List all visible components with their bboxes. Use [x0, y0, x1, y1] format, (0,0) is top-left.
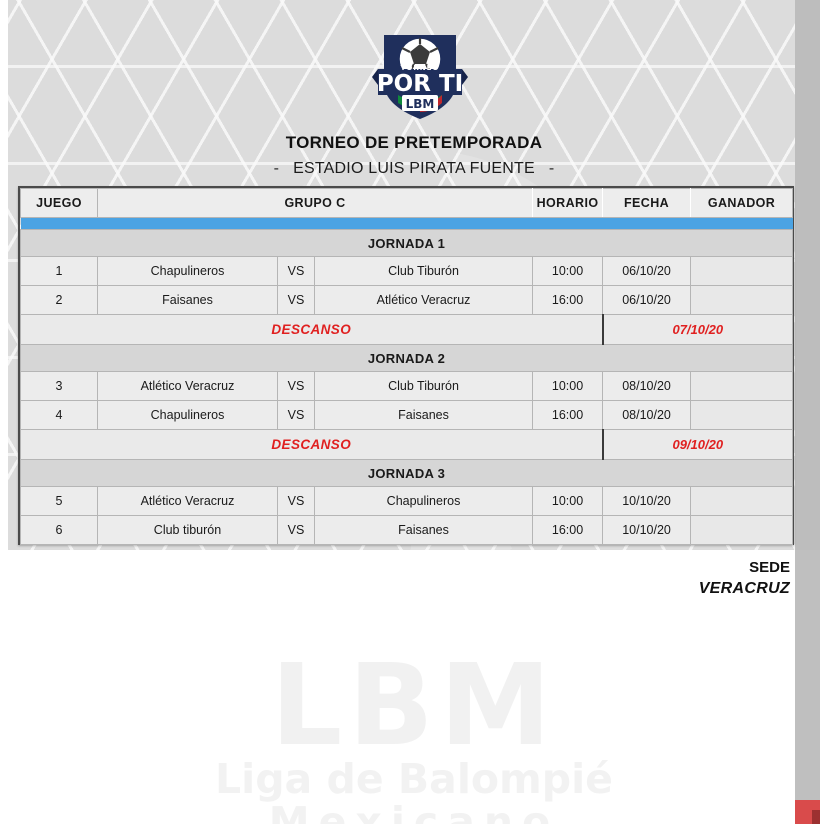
table-row[interactable]: 2 Faisanes VS Atlético Veracruz 16:00 06… — [21, 286, 793, 315]
cell-juego: 3 — [21, 372, 98, 401]
lbm-watermark: LBM Liga de Balompié Mexicano — [0, 655, 828, 824]
schedule-table-wrapper: JUEGO GRUPO C HORARIO FECHA GANADOR JORN… — [18, 186, 794, 545]
table-head: JUEGO GRUPO C HORARIO FECHA GANADOR — [21, 189, 793, 230]
rest-date: 09/10/20 — [603, 430, 793, 460]
cell-horario: 16:00 — [533, 286, 603, 315]
table-row[interactable]: 5 Atlético Veracruz VS Chapulineros 10:0… — [21, 487, 793, 516]
cell-juego: 2 — [21, 286, 98, 315]
rest-label: DESCANSO — [21, 430, 603, 460]
cell-team1: Faisanes — [98, 286, 278, 315]
sede-block: SEDE VERACRUZ — [0, 558, 790, 600]
column-header-juego: JUEGO — [21, 189, 98, 218]
cell-team1: Atlético Veracruz — [98, 487, 278, 516]
right-edge-band-lower — [795, 550, 820, 800]
cell-horario: 10:00 — [533, 257, 603, 286]
dash-right: - — [535, 160, 569, 178]
cell-team2: Club Tiburón — [315, 372, 533, 401]
table-body: JORNADA 1 1 Chapulineros VS Club Tiburón… — [21, 230, 793, 545]
right-white-margin — [820, 0, 828, 824]
cell-team2: Atlético Veracruz — [315, 286, 533, 315]
cell-ganador[interactable] — [691, 401, 793, 430]
cell-horario: 16:00 — [533, 516, 603, 545]
sede-value: VERACRUZ — [0, 578, 790, 600]
rest-date: 07/10/20 — [603, 315, 793, 345]
lbm-watermark-line1: Liga de Balompié — [0, 758, 828, 801]
section-header-row: JORNADA 2 — [21, 345, 793, 372]
accent-bar-row — [21, 218, 793, 230]
cell-team1: Atlético Veracruz — [98, 372, 278, 401]
section-title: JORNADA 3 — [21, 460, 793, 487]
red-corner-marker-dark — [812, 810, 820, 824]
cell-fecha: 08/10/20 — [603, 372, 691, 401]
cell-horario: 16:00 — [533, 401, 603, 430]
accent-bar — [21, 218, 793, 230]
cell-horario: 10:00 — [533, 487, 603, 516]
page-title: TORNEO DE PRETEMPORADA — [0, 133, 828, 153]
cell-ganador[interactable] — [691, 487, 793, 516]
cell-ganador[interactable] — [691, 257, 793, 286]
section-title: JORNADA 1 — [21, 230, 793, 257]
venue-name: ESTADIO LUIS PIRATA FUENTE — [293, 160, 535, 177]
cell-vs: VS — [278, 372, 315, 401]
lbm-watermark-big: LBM — [0, 655, 828, 758]
dash-left: - — [260, 160, 294, 178]
svg-text:LBM: LBM — [406, 97, 435, 111]
table-row[interactable]: 3 Atlético Veracruz VS Club Tiburón 10:0… — [21, 372, 793, 401]
column-header-grupo: GRUPO C — [98, 189, 533, 218]
cell-vs: VS — [278, 516, 315, 545]
left-white-margin — [0, 0, 8, 824]
cell-team2: Faisanes — [315, 516, 533, 545]
cell-fecha: 10/10/20 — [603, 516, 691, 545]
schedule-table: JUEGO GRUPO C HORARIO FECHA GANADOR JORN… — [20, 188, 793, 545]
rest-label: DESCANSO — [21, 315, 603, 345]
section-header-row: JORNADA 3 — [21, 460, 793, 487]
column-header-horario: HORARIO — [533, 189, 603, 218]
table-header-row: JUEGO GRUPO C HORARIO FECHA GANADOR — [21, 189, 793, 218]
cell-team1: Chapulineros — [98, 401, 278, 430]
cell-juego: 1 — [21, 257, 98, 286]
table-row[interactable]: 6 Club tiburón VS Faisanes 16:00 10/10/2… — [21, 516, 793, 545]
table-row[interactable]: 4 Chapulineros VS Faisanes 16:00 08/10/2… — [21, 401, 793, 430]
cell-fecha: 06/10/20 — [603, 257, 691, 286]
lbm-watermark-line2: Mexicano — [0, 801, 828, 824]
cell-vs: VS — [278, 401, 315, 430]
table-row[interactable]: 1 Chapulineros VS Club Tiburón 10:00 06/… — [21, 257, 793, 286]
cell-team2: Club Tiburón — [315, 257, 533, 286]
cell-horario: 10:00 — [533, 372, 603, 401]
cell-team2: Chapulineros — [315, 487, 533, 516]
cell-vs: VS — [278, 487, 315, 516]
cell-fecha: 06/10/20 — [603, 286, 691, 315]
rest-day-row: DESCANSO 09/10/20 — [21, 430, 793, 460]
cell-team1: Chapulineros — [98, 257, 278, 286]
schedule-page: LBM Liga de Balompié Mexicano TORNEO POR… — [0, 0, 828, 824]
venue-line: -ESTADIO LUIS PIRATA FUENTE- — [0, 160, 828, 178]
cell-ganador[interactable] — [691, 372, 793, 401]
cell-team1: Club tiburón — [98, 516, 278, 545]
column-header-ganador: GANADOR — [691, 189, 793, 218]
cell-juego: 5 — [21, 487, 98, 516]
sede-label: SEDE — [0, 558, 790, 578]
cell-vs: VS — [278, 286, 315, 315]
cell-ganador[interactable] — [691, 286, 793, 315]
cell-juego: 6 — [21, 516, 98, 545]
tournament-logo: TORNEO POR TI LBM — [370, 25, 470, 123]
cell-juego: 4 — [21, 401, 98, 430]
cell-team2: Faisanes — [315, 401, 533, 430]
column-header-fecha: FECHA — [603, 189, 691, 218]
rest-day-row: DESCANSO 07/10/20 — [21, 315, 793, 345]
svg-text:POR TI: POR TI — [377, 71, 463, 97]
cell-fecha: 10/10/20 — [603, 487, 691, 516]
cell-fecha: 08/10/20 — [603, 401, 691, 430]
cell-vs: VS — [278, 257, 315, 286]
cell-ganador[interactable] — [691, 516, 793, 545]
section-header-row: JORNADA 1 — [21, 230, 793, 257]
section-title: JORNADA 2 — [21, 345, 793, 372]
